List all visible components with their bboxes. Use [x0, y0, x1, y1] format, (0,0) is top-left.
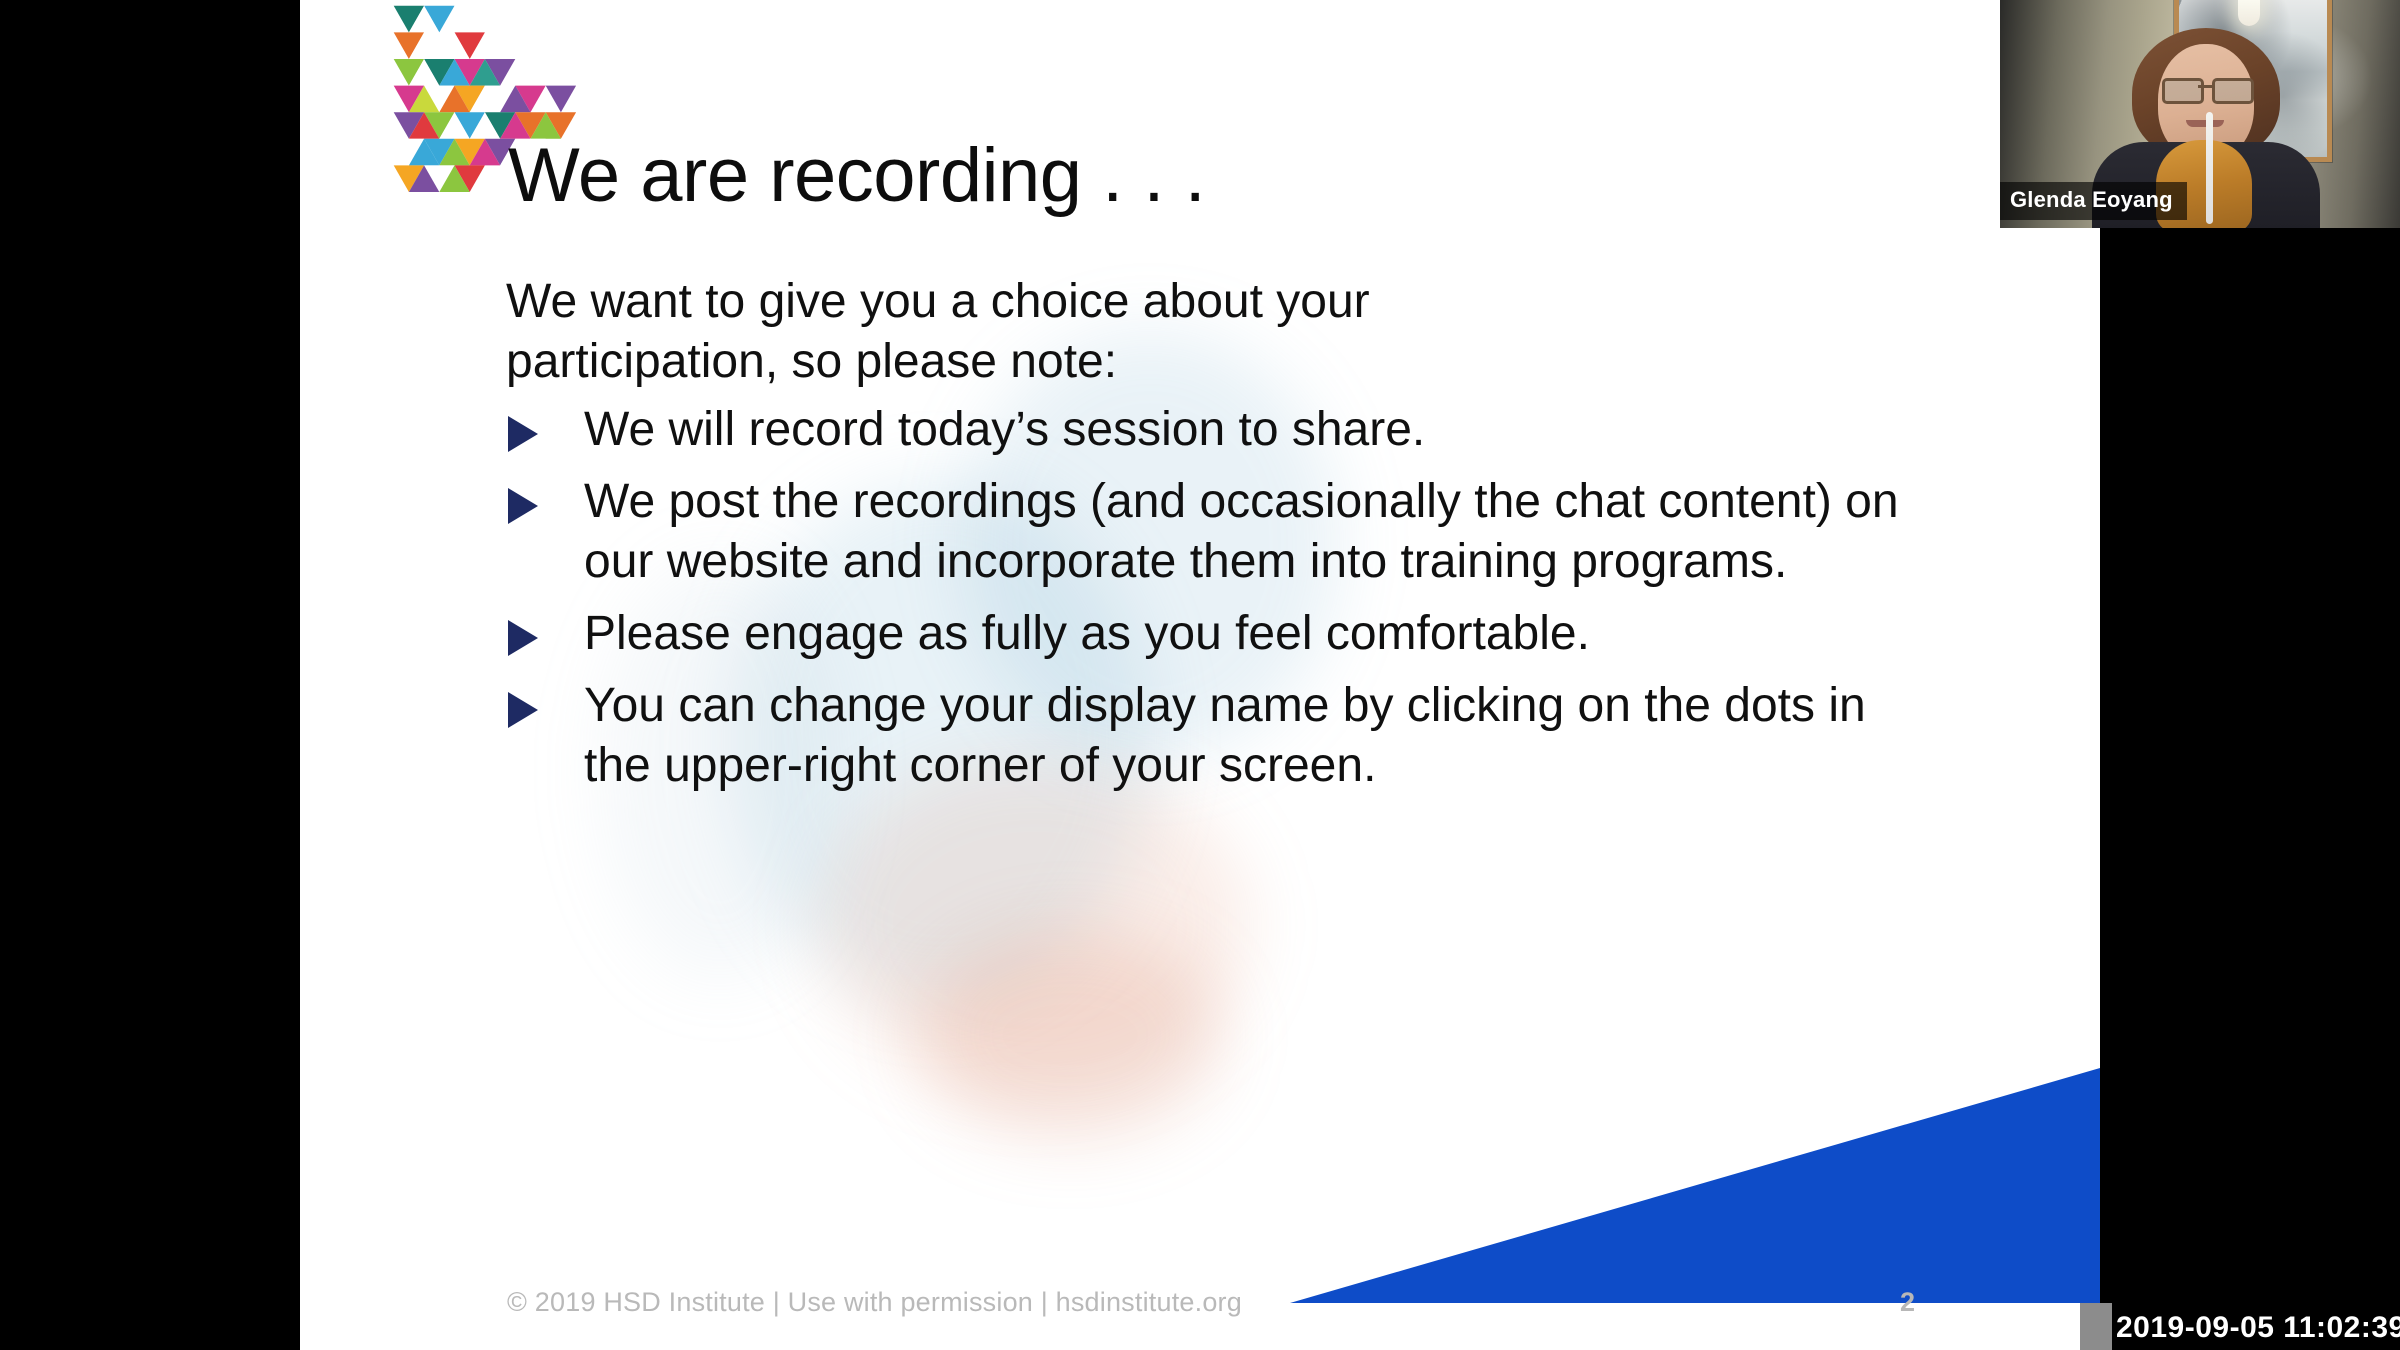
triangle-bullet-icon	[508, 620, 538, 656]
list-item-text: We post the recordings (and occasionally…	[584, 475, 1899, 588]
eyeglass-lens-left	[2162, 78, 2204, 104]
triangle-bullet-icon	[508, 692, 538, 728]
participant-mouth	[2186, 120, 2224, 127]
blue-accent-triangle	[1290, 1068, 2100, 1303]
participant-video-tile[interactable]: Glenda Eoyang	[2000, 0, 2400, 228]
recorded-webinar-frame: We are recording . . . We want to give y…	[0, 0, 2400, 1350]
list-item: You can change your display name by clic…	[506, 676, 1926, 796]
list-item-text: We will record today’s session to share.	[584, 403, 1425, 456]
slide-lead-text: We want to give you a choice about your …	[506, 272, 1566, 392]
background-watermark	[920, 930, 1220, 1140]
slide-body: We want to give you a choice about your …	[506, 272, 1926, 808]
bullet-list: We will record today’s session to share.…	[506, 400, 1926, 796]
page-title: We are recording . . .	[508, 138, 1205, 214]
ceiling-lamp	[2238, 0, 2260, 26]
timestamp-drag-handle[interactable]	[2080, 1303, 2112, 1350]
eyeglass-lens-right	[2212, 78, 2254, 104]
earbud-cord	[2206, 112, 2213, 224]
slide-footer-credit: © 2019 HSD Institute | Use with permissi…	[507, 1287, 1242, 1318]
eyeglass-bridge	[2198, 85, 2212, 88]
triangle-bullet-icon	[508, 416, 538, 452]
list-item: Please engage as fully as you feel comfo…	[506, 604, 1926, 664]
presentation-slide: We are recording . . . We want to give y…	[300, 0, 2100, 1350]
slide-number: 2	[1900, 1287, 1915, 1318]
list-item-text: Please engage as fully as you feel comfo…	[584, 607, 1590, 660]
participant-name-label: Glenda Eoyang	[2000, 182, 2187, 220]
eyeglasses	[2158, 78, 2256, 98]
triangle-bullet-icon	[508, 488, 538, 524]
list-item-text: You can change your display name by clic…	[584, 679, 1866, 792]
list-item: We post the recordings (and occasionally…	[506, 472, 1926, 592]
background-watermark	[820, 760, 1250, 1090]
list-item: We will record today’s session to share.	[506, 400, 1926, 460]
recording-timestamp: 2019-09-05 11:02:39	[2116, 1311, 2400, 1345]
